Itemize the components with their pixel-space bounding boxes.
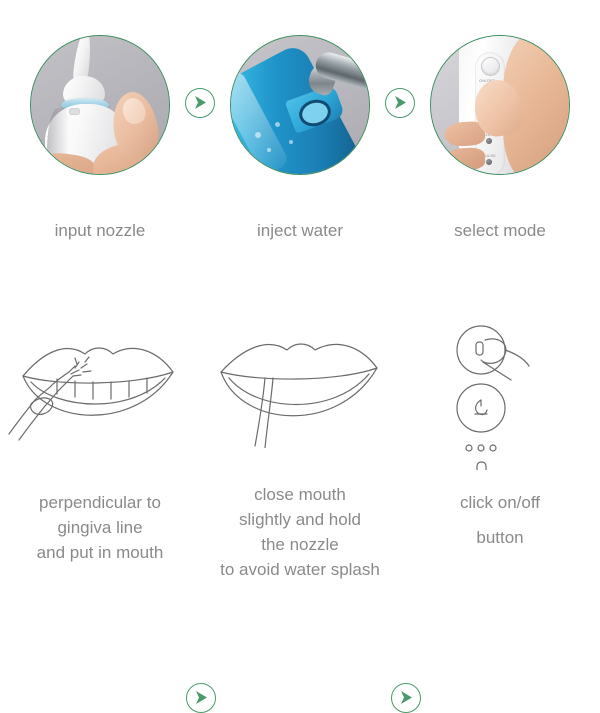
step-card-2: inject water bbox=[200, 0, 400, 300]
caption-line: select mode bbox=[400, 218, 600, 243]
pulse-mode-indicator bbox=[486, 159, 492, 165]
step-1-photo-hand-holding-irrigator bbox=[30, 35, 170, 175]
step-3-photo-control-panel: ON/OFF SOFT PULSE bbox=[430, 35, 570, 175]
step-6-illustration-finger-clicking-button bbox=[425, 320, 575, 475]
steps-row-bottom: perpendicular to gingiva line and put in… bbox=[0, 300, 600, 600]
step-card-4: perpendicular to gingiva line and put in… bbox=[0, 300, 200, 600]
step-2-caption: inject water bbox=[200, 218, 400, 243]
body-button-shape bbox=[69, 108, 80, 115]
step-2-photo-tank-filling bbox=[230, 35, 370, 175]
caption-line: gingiva line bbox=[0, 515, 200, 540]
step-card-3: ON/OFF SOFT PULSE select mode bbox=[400, 0, 600, 300]
water-bubble bbox=[255, 132, 261, 138]
water-bubble bbox=[267, 148, 271, 152]
step-5-illustration-closed-mouth-with-nozzle bbox=[205, 328, 395, 453]
step-4-caption: perpendicular to gingiva line and put in… bbox=[0, 490, 200, 565]
caption-spacer bbox=[400, 515, 600, 525]
caption-line: perpendicular to bbox=[0, 490, 200, 515]
caption-line: button bbox=[400, 525, 600, 550]
caption-line: the nozzle bbox=[200, 532, 400, 557]
steps-row-top: input nozzle inject water bbox=[0, 0, 600, 300]
step-3-caption: select mode bbox=[400, 218, 600, 243]
step-card-6: click on/off button bbox=[400, 300, 600, 600]
step-1-caption: input nozzle bbox=[0, 218, 200, 243]
power-button-shape bbox=[482, 58, 499, 75]
caption-line: close mouth bbox=[200, 482, 400, 507]
step-4-illustration-open-mouth-with-nozzle bbox=[5, 328, 195, 453]
step-card-5: close mouth slightly and hold the nozzle… bbox=[200, 300, 400, 600]
caption-line: inject water bbox=[200, 218, 400, 243]
arrow-step5-to-step6-icon bbox=[391, 683, 421, 713]
step-card-1: input nozzle bbox=[0, 0, 200, 300]
caption-line: and put in mouth bbox=[0, 540, 200, 565]
soft-mode-indicator bbox=[486, 138, 492, 144]
hand-finger-lower bbox=[445, 147, 486, 170]
arrow-step1-to-step2-icon bbox=[185, 88, 215, 118]
water-bubble bbox=[275, 122, 280, 127]
caption-line: click on/off bbox=[400, 490, 600, 515]
caption-line: slightly and hold bbox=[200, 507, 400, 532]
arrow-step4-to-step5-icon bbox=[186, 683, 216, 713]
caption-line: to avoid water splash bbox=[200, 557, 400, 582]
step-6-caption: click on/off button bbox=[400, 490, 600, 550]
instruction-infographic: input nozzle inject water bbox=[0, 0, 600, 600]
water-bubble bbox=[289, 140, 293, 144]
step-5-caption: close mouth slightly and hold the nozzle… bbox=[200, 482, 400, 582]
caption-line: input nozzle bbox=[0, 218, 200, 243]
arrow-step2-to-step3-icon bbox=[385, 88, 415, 118]
